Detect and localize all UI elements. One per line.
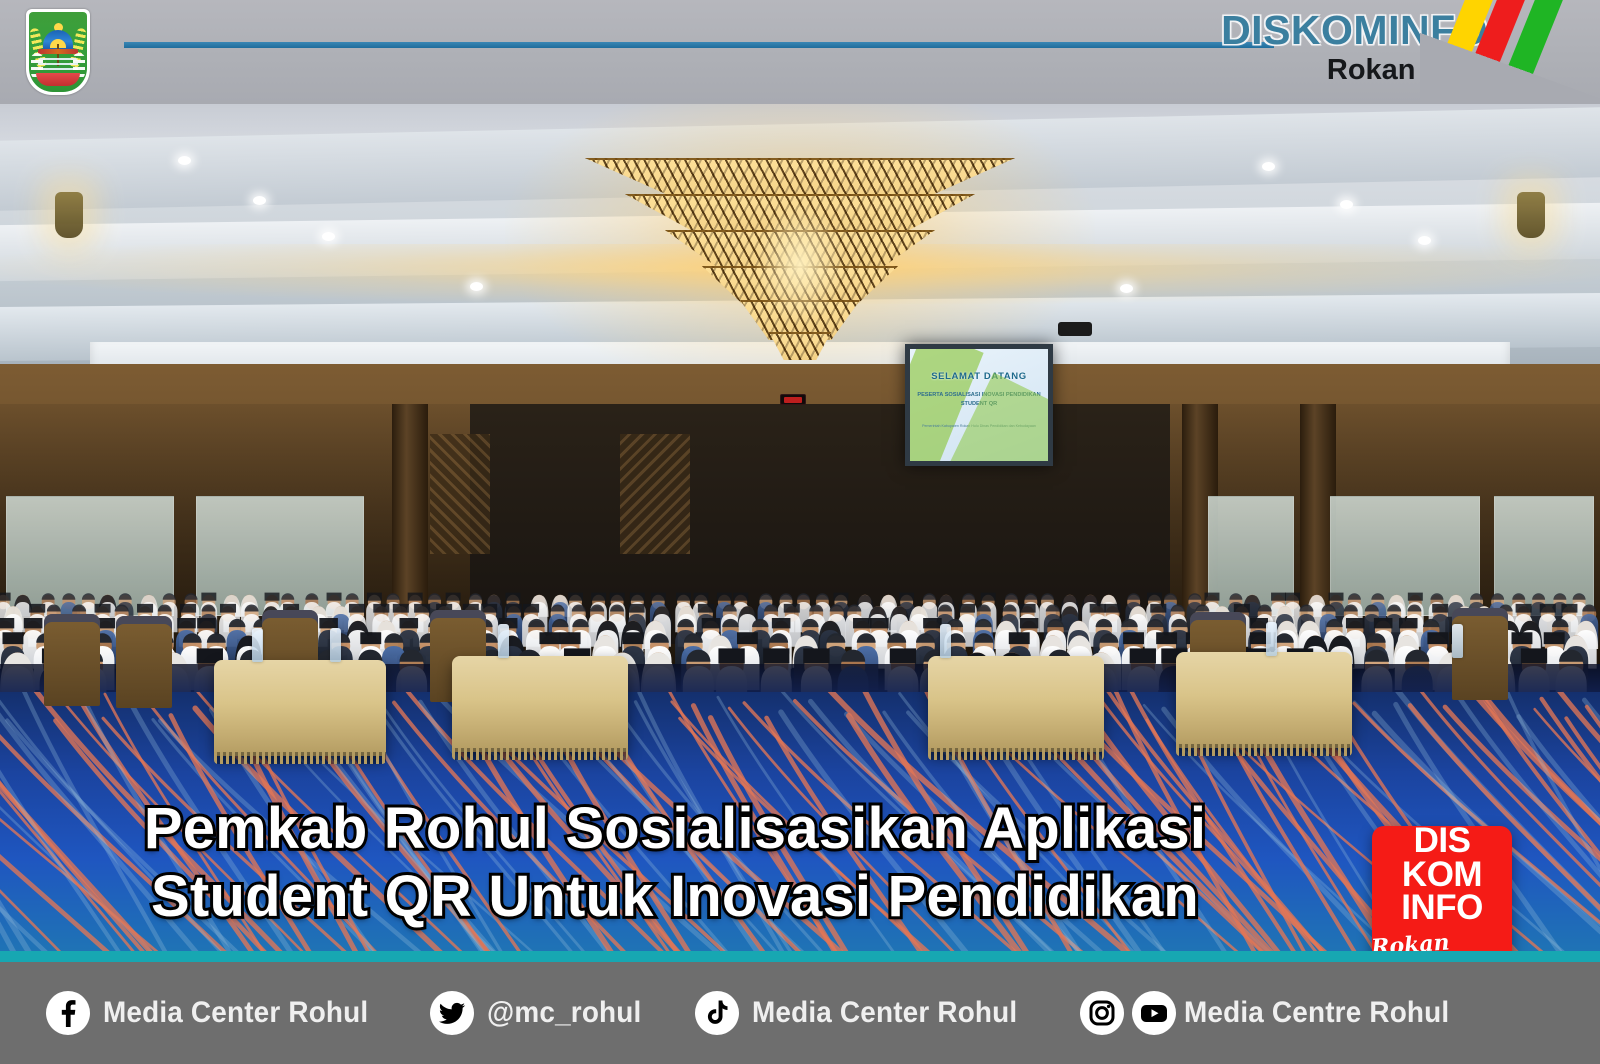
tiktok-icon <box>695 991 739 1035</box>
corner-ribbon-decoration <box>1420 0 1600 104</box>
social-footer: Media Center Rohul @mc_rohul Media Cente… <box>0 962 1600 1064</box>
wall-sconce-right <box>1517 192 1545 238</box>
headline-line-1: Pemkab Rohul Sosialisasikan Aplikasi <box>0 795 1350 863</box>
front-table <box>928 656 1104 752</box>
slide-subtitle: PESERTA SOSIALISASI INOVASI PENDIDIKAN S… <box>916 391 1042 409</box>
tiktok-label: Media Center Rohul <box>752 996 1017 1030</box>
social-facebook[interactable]: Media Center Rohul <box>46 991 388 1035</box>
digital-clock <box>780 394 806 405</box>
rokan-hulu-crest-icon <box>26 9 90 95</box>
slide-footnote: Pemerintah Kabupaten Rokan Hulu Dinas Pe… <box>916 423 1042 429</box>
news-card: DISKOMINFO Rokan Hulu <box>0 0 1600 1064</box>
page-header: DISKOMINFO Rokan Hulu <box>0 0 1600 104</box>
front-table <box>214 660 386 756</box>
wall-sconce-left <box>55 192 83 238</box>
banquet-chair <box>116 616 172 708</box>
headline-line-2: Student QR Untuk Inovasi Pendidikan <box>0 863 1350 931</box>
social-twitter[interactable]: @mc_rohul <box>430 991 653 1035</box>
projection-screen: SELAMAT DATANG PESERTA SOSIALISASI INOVA… <box>905 344 1053 466</box>
page-title: Pemkab Rohul Sosialisasikan Aplikasi Stu… <box>0 795 1350 931</box>
youtube-icon <box>1132 991 1176 1035</box>
chandelier <box>585 134 1015 364</box>
footer-accent-bar <box>0 951 1600 962</box>
instagram-youtube-label: Media Centre Rohul <box>1184 996 1449 1030</box>
badge-line-2: KOM <box>1402 858 1482 892</box>
badge-line-1: DIS <box>1414 824 1471 858</box>
twitter-label: @mc_rohul <box>487 996 641 1030</box>
front-table <box>1176 652 1352 748</box>
banquet-chair <box>44 614 100 706</box>
projector <box>1058 322 1092 336</box>
slide-title: SELAMAT DATANG <box>910 371 1048 382</box>
instagram-icon <box>1080 991 1124 1035</box>
front-table <box>452 656 628 752</box>
badge-line-3: INFO <box>1401 891 1483 925</box>
facebook-label: Media Center Rohul <box>103 996 368 1030</box>
header-rule <box>124 42 1274 48</box>
social-tiktok[interactable]: Media Center Rohul <box>695 991 1037 1035</box>
facebook-icon <box>46 991 90 1035</box>
twitter-icon <box>430 991 474 1035</box>
social-instagram-youtube[interactable]: Media Centre Rohul <box>1080 991 1469 1035</box>
